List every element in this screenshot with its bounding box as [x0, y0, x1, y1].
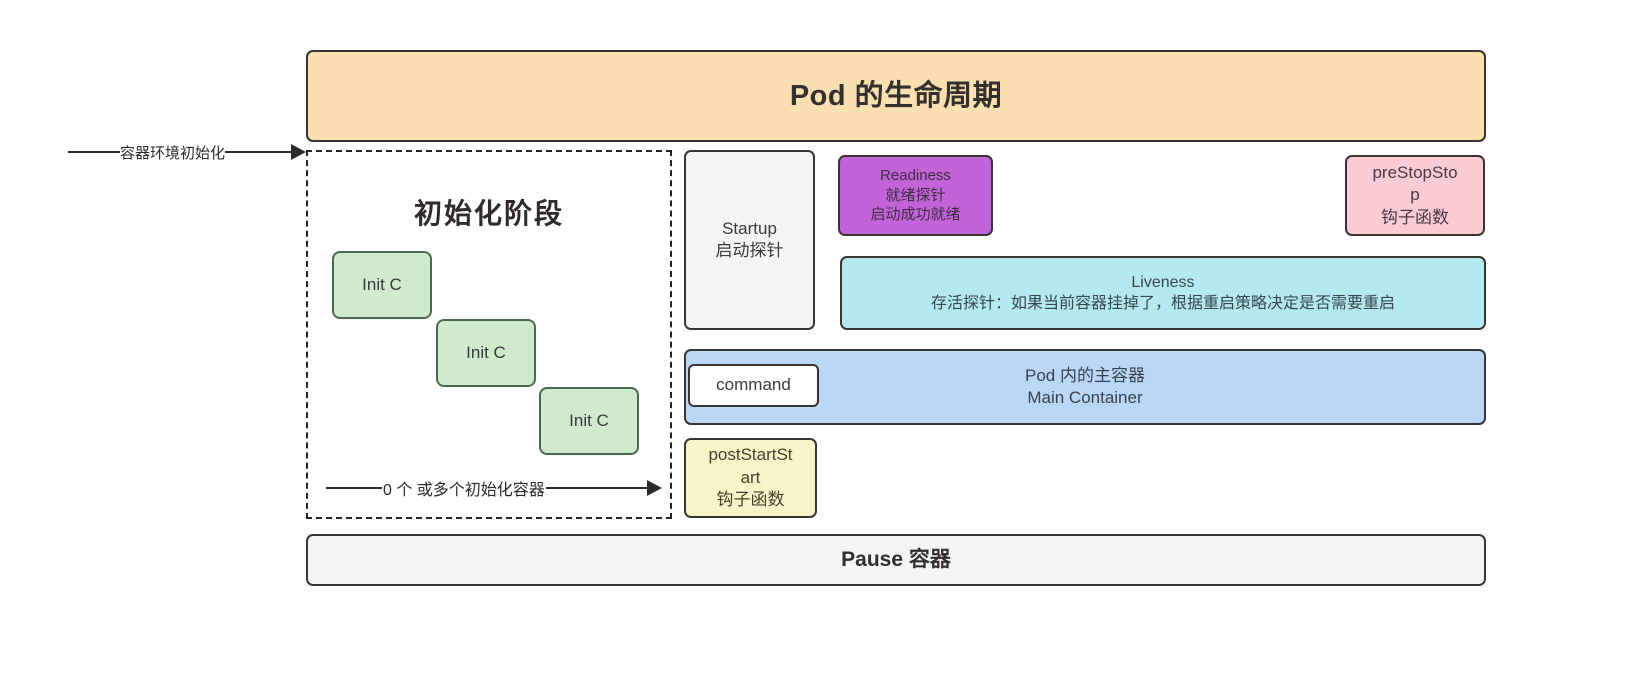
entry-arrowhead-icon: [291, 144, 306, 160]
init-containers-count-arrow: 0 个 或多个初始化容器: [326, 470, 662, 506]
entry-arrow-label: 容器环境初始化: [120, 142, 225, 163]
init-arrow-label: 0 个 或多个初始化容器: [382, 476, 546, 500]
pod-lifecycle-title: Pod 的生命周期: [306, 50, 1486, 142]
init-container-2[interactable]: Init C: [436, 319, 536, 387]
entry-arrow-line-right: [225, 151, 292, 153]
entry-arrow-line-left: [68, 151, 120, 153]
init-phase-title: 初始化阶段: [308, 192, 670, 232]
liveness-probe-box[interactable]: Liveness 存活探针：如果当前容器挂掉了，根据重启策略决定是否需要重启: [840, 256, 1486, 330]
poststart-hook-box[interactable]: postStartSt art 钩子函数: [684, 438, 817, 518]
pause-container-box: Pause 容器: [306, 534, 1486, 586]
readiness-probe-box[interactable]: Readiness 就绪探针 启动成功就绪: [838, 155, 993, 236]
startup-probe-box[interactable]: Startup 启动探针: [684, 150, 815, 330]
prestop-hook-box[interactable]: preStopSto p 钩子函数: [1345, 155, 1485, 236]
diagram-canvas: Pod 的生命周期 容器环境初始化 初始化阶段 Init C Init C In…: [0, 0, 1634, 689]
init-arrow-line-left: [326, 487, 382, 489]
entry-arrow: 容器环境初始化: [68, 137, 306, 167]
init-container-1[interactable]: Init C: [332, 251, 432, 319]
init-arrowhead-icon: [647, 480, 662, 496]
command-box[interactable]: command: [688, 364, 819, 407]
init-container-3[interactable]: Init C: [539, 387, 639, 455]
init-arrow-line-right: [546, 487, 648, 489]
